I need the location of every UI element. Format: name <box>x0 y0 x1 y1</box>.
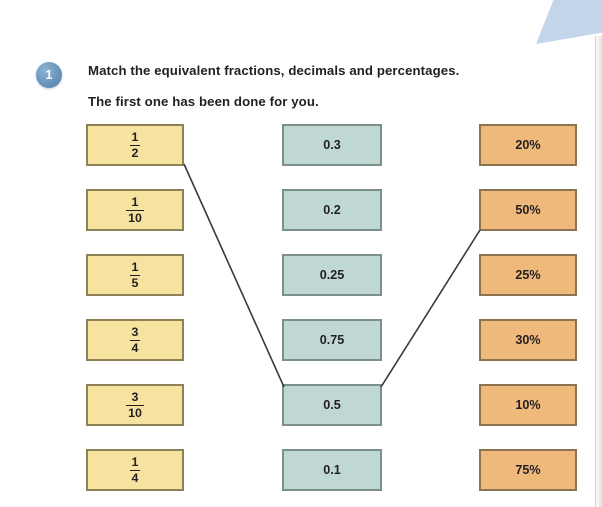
fraction-box[interactable]: 1 5 <box>86 254 184 296</box>
fraction-box[interactable]: 1 4 <box>86 449 184 491</box>
decimal-value: 0.5 <box>323 398 341 412</box>
decimal-value: 0.2 <box>323 203 341 217</box>
decimal-value: 0.25 <box>320 268 345 282</box>
fraction-numerator: 1 <box>132 456 139 470</box>
fraction-denominator: 4 <box>130 340 141 355</box>
instruction-line-secondary: The first one has been done for you. <box>88 78 556 109</box>
matching-area: 1 2 1 10 1 5 3 4 3 10 <box>0 124 602 494</box>
page-corner-decoration <box>536 0 602 44</box>
fraction-denominator: 2 <box>130 145 141 160</box>
percentage-box[interactable]: 10% <box>479 384 577 426</box>
decimal-box[interactable]: 0.5 <box>282 384 382 426</box>
fraction-numerator: 1 <box>132 196 139 210</box>
percentage-value: 25% <box>515 268 540 282</box>
percentage-value: 10% <box>515 398 540 412</box>
fraction-numerator: 1 <box>132 131 139 145</box>
fraction-denominator: 10 <box>126 210 144 225</box>
fraction-value: 1 2 <box>130 131 141 159</box>
decimal-box[interactable]: 0.75 <box>282 319 382 361</box>
percentage-box[interactable]: 20% <box>479 124 577 166</box>
fraction-numerator: 3 <box>132 326 139 340</box>
fraction-denominator: 5 <box>130 275 141 290</box>
decimal-box[interactable]: 0.1 <box>282 449 382 491</box>
decimal-value: 0.1 <box>323 463 341 477</box>
fraction-value: 3 4 <box>130 326 141 354</box>
decimal-box[interactable]: 0.3 <box>282 124 382 166</box>
percentage-value: 30% <box>515 333 540 347</box>
percentage-box[interactable]: 25% <box>479 254 577 296</box>
fraction-value: 1 10 <box>126 196 144 224</box>
fraction-numerator: 1 <box>132 261 139 275</box>
fraction-box[interactable]: 3 10 <box>86 384 184 426</box>
fraction-value: 3 10 <box>126 391 144 419</box>
percentage-value: 50% <box>515 203 540 217</box>
fraction-numerator: 3 <box>132 391 139 405</box>
fraction-box[interactable]: 3 4 <box>86 319 184 361</box>
question-header: 1 Match the equivalent fractions, decima… <box>36 58 556 109</box>
fraction-value: 1 5 <box>130 261 141 289</box>
percentage-box[interactable]: 75% <box>479 449 577 491</box>
fraction-denominator: 4 <box>130 470 141 485</box>
percentage-box[interactable]: 30% <box>479 319 577 361</box>
decimal-box[interactable]: 0.25 <box>282 254 382 296</box>
decimal-box[interactable]: 0.2 <box>282 189 382 231</box>
decimal-value: 0.75 <box>320 333 345 347</box>
fraction-box[interactable]: 1 2 <box>86 124 184 166</box>
percentage-value: 20% <box>515 138 540 152</box>
percentage-value: 75% <box>515 463 540 477</box>
fraction-denominator: 10 <box>126 405 144 420</box>
instruction-line-primary: Match the equivalent fractions, decimals… <box>88 58 556 78</box>
percentage-box[interactable]: 50% <box>479 189 577 231</box>
question-number-badge: 1 <box>36 62 62 88</box>
fraction-box[interactable]: 1 10 <box>86 189 184 231</box>
fraction-value: 1 4 <box>130 456 141 484</box>
decimal-value: 0.3 <box>323 138 341 152</box>
